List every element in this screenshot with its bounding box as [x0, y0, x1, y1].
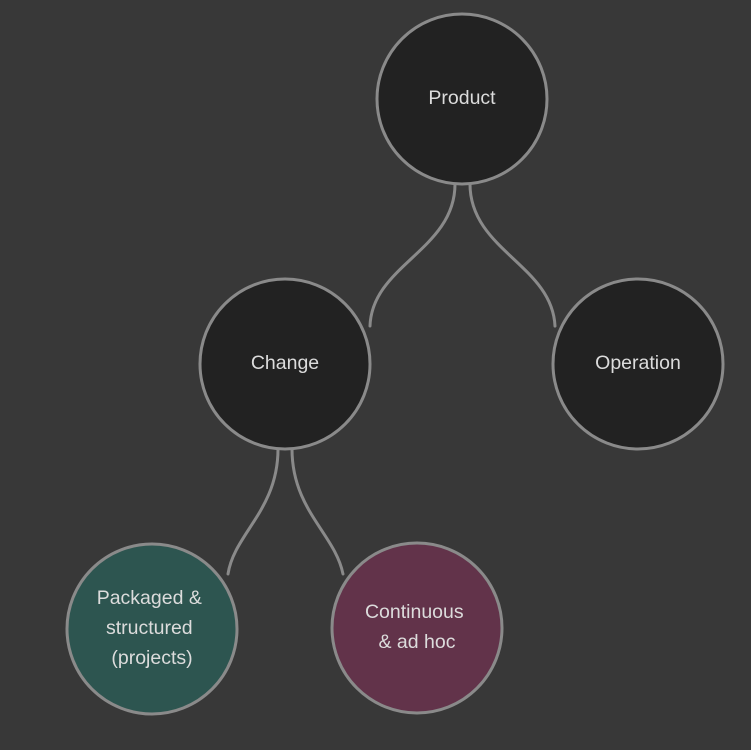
node-packaged-circle[interactable] [67, 544, 237, 714]
node-operation[interactable]: Operation [553, 279, 723, 449]
mindmap-canvas: Product Change Operation Packaged & [0, 0, 751, 750]
node-operation-circle[interactable] [553, 279, 723, 449]
node-product[interactable]: Product [377, 14, 547, 184]
mindmap-svg: Product Change Operation Packaged & [0, 0, 751, 750]
node-packaged-structured-projects[interactable]: Packaged & structured (projects) [67, 544, 237, 714]
node-change-circle[interactable] [200, 279, 370, 449]
node-continuous-ad-hoc[interactable]: Continuous & ad hoc [332, 543, 502, 713]
node-product-circle[interactable] [377, 14, 547, 184]
node-continuous-circle[interactable] [332, 543, 502, 713]
node-change[interactable]: Change [200, 279, 370, 449]
